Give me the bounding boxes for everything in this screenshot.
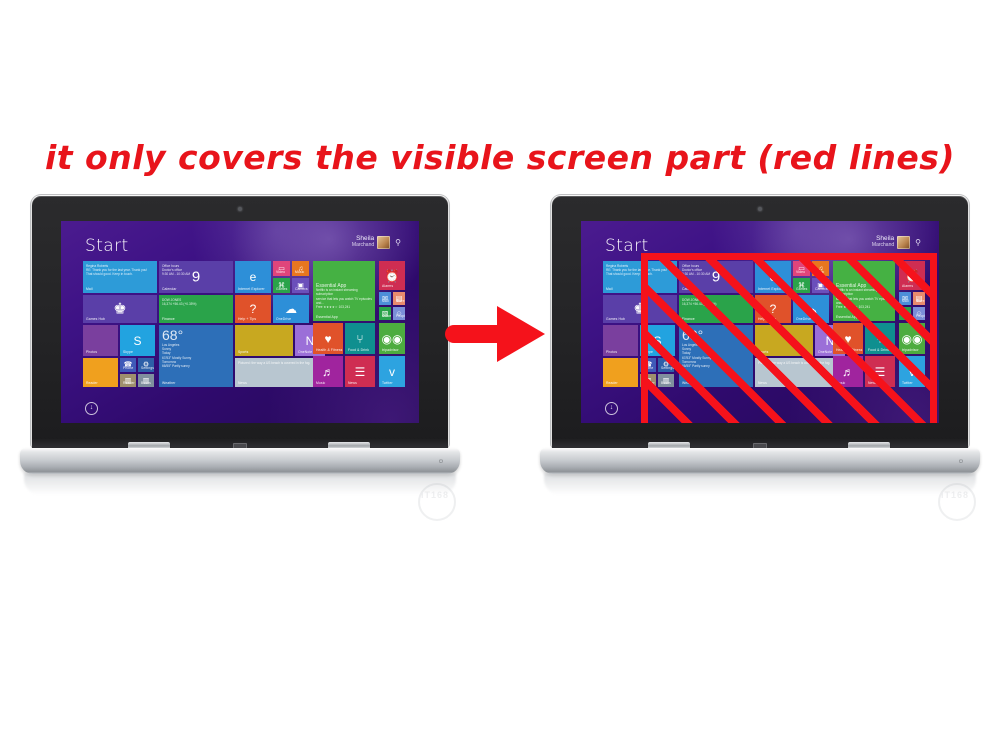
trophy-tile-label: Games Hub <box>86 317 105 321</box>
onedrive-tile-glyph-icon: ☁ <box>285 303 297 315</box>
internet-explorer-tile[interactable]: eInternet Explorer <box>235 261 271 293</box>
laptop-screen: Start Sheila Marchand ⚲ Regina RobertsRE… <box>61 221 419 423</box>
weather-tile-line-0: 68° <box>162 328 230 343</box>
orange-tile-label: Reader <box>606 381 618 385</box>
twitter-tile-glyph-icon: ᴠ <box>389 366 395 378</box>
health-fitness-tile-label: Health & Fitness <box>316 348 342 352</box>
help-tips-tile-label: Help + Tips <box>238 317 256 321</box>
tripadvisor-tile-label: tripadvisor <box>382 348 399 352</box>
laptop-lid: Start Sheila Marchand ⚲ Regina RobertsRE… <box>552 196 968 448</box>
news-red-tile-glyph-icon: ☰ <box>355 366 366 378</box>
phone-small-tile[interactable]: ☎Phone <box>120 358 136 372</box>
office-small-tile-label: Office <box>382 314 391 318</box>
food-drink-tile-glyph-icon: ⑂ <box>356 333 363 345</box>
user-account[interactable]: Sheila Marchand ⚲ <box>872 235 921 249</box>
settings-small-tile-label: Settings <box>141 366 154 370</box>
settings-small-tile[interactable]: ⚙Settings <box>138 358 154 372</box>
all-apps-down-arrow-icon[interactable]: ↓ <box>85 402 98 415</box>
trophy-tile-glyph-icon: ♚ <box>113 302 126 317</box>
watermark-text: IT168 <box>910 481 1000 502</box>
laptop-screen: Start Sheila Marchand ⚲ Regina RobertsRE… <box>581 221 939 423</box>
contacts-small-tile-label: People <box>396 314 405 318</box>
user-last-name: Marchand <box>872 242 894 249</box>
finance-tile-label: Finance <box>162 317 175 321</box>
music-purple-tile[interactable]: ♬Music <box>313 356 343 387</box>
music-purple-tile-glyph-icon: ♬ <box>322 366 334 378</box>
user-first-name: Sheila <box>872 235 894 242</box>
laptop-after: Start Sheila Marchand ⚲ Regina RobertsRE… <box>540 196 980 526</box>
help-tips-tile-glyph-icon: ? <box>250 303 257 315</box>
books-small-tile[interactable]: ▥Books <box>138 374 154 387</box>
photos-tile[interactable]: Photos <box>83 325 118 356</box>
user-first-name: Sheila <box>352 235 374 242</box>
food-drink-tile-label: Food & Drink <box>348 348 369 352</box>
laptop-base: ⏻ <box>20 448 460 474</box>
trophy-tile[interactable]: ♚Games Hub <box>83 295 157 323</box>
store-small-tile[interactable]: ▤Store <box>393 292 405 305</box>
help-tips-tile[interactable]: ?Help + Tips <box>235 295 271 323</box>
mail-small-tile-label: Mail <box>382 299 389 303</box>
onedrive-tile-label: OneDrive <box>276 317 291 321</box>
camera-tile-label: Camera <box>295 287 308 291</box>
photos-tile-label: Photos <box>606 350 617 354</box>
user-last-name: Marchand <box>352 242 374 249</box>
watermark: IT168 <box>390 481 480 523</box>
laptop-before: Start Sheila Marchand ⚲ Regina RobertsRE… <box>20 196 460 526</box>
search-icon[interactable]: ⚲ <box>915 238 921 247</box>
calendar-tile[interactable]: 9Office hoursDoctor's office9:30 AM - 10… <box>159 261 233 293</box>
photos-tile-label: Photos <box>86 350 97 354</box>
video-tile-label: Video <box>276 270 285 274</box>
skype-tile-label: Skype <box>123 350 133 354</box>
orange-tile-label: Reader <box>86 381 98 385</box>
right-arrow-icon <box>445 306 550 362</box>
avatar[interactable] <box>377 236 390 249</box>
mail-tile[interactable]: Regina RobertsRE: Thank you for the last… <box>83 261 157 293</box>
webcam-icon <box>758 207 762 211</box>
essential-app-tile-label: Essential App <box>316 315 338 319</box>
watermark-text: IT168 <box>390 481 480 502</box>
news-photo-tile[interactable]: Pictured: the way a US beach is covered … <box>235 358 325 387</box>
camera-tile[interactable]: ▣Camera <box>292 278 309 293</box>
calendar-tile-line-2: 9:30 AM - 10:30 AM <box>162 272 230 276</box>
weather-tile-line-6: 66/55° Partly sunny <box>162 364 230 368</box>
twitter-tile[interactable]: ᴠTwitter <box>379 356 405 387</box>
news-red-tile[interactable]: ☰News <box>345 356 375 387</box>
essential-app-tile-line-3: Free ★★★★☆ 103,241 <box>316 305 372 309</box>
power-button-icon[interactable]: ⏻ <box>959 459 964 465</box>
video-tile[interactable]: ▭Video <box>273 261 290 276</box>
weather-tile[interactable]: 68°Los AngelesSunnyToday67/53° Mostly Su… <box>159 325 233 387</box>
page-canvas: it only covers the visible screen part (… <box>0 0 1000 750</box>
sports-tile-label: Sports <box>238 350 248 354</box>
user-name: Sheila Marchand <box>872 235 894 249</box>
store-small-tile-label: Store <box>396 299 405 303</box>
laptop-base: ⏻ <box>540 448 980 474</box>
laptop-lid: Start Sheila Marchand ⚲ Regina RobertsRE… <box>32 196 448 448</box>
orange-tile[interactable]: Reader <box>83 358 118 387</box>
music-purple-tile-label: Music <box>316 381 325 385</box>
alarms-tile[interactable]: ⏰Alarms <box>379 261 405 290</box>
calendar-tile-label: Calendar <box>162 287 177 291</box>
red-hatch-overlay <box>641 253 937 423</box>
webcam-icon <box>238 207 242 211</box>
reader-small-tile[interactable]: ▥Reader <box>120 374 136 387</box>
contacts-small-tile[interactable]: ☺People <box>393 307 405 320</box>
games-tile[interactable]: ⌘Games <box>273 278 290 293</box>
phone-small-tile-label: Phone <box>123 366 133 370</box>
trophy-tile-label: Games Hub <box>606 317 625 321</box>
food-drink-tile[interactable]: ⑂Food & Drink <box>345 323 375 354</box>
news-photo-tile-text: Pictured: the way a US beach is covered … <box>238 361 322 365</box>
tile-grid: Regina RobertsRE: Thank you for the last… <box>83 261 405 401</box>
user-account[interactable]: Sheila Marchand ⚲ <box>352 235 401 249</box>
avatar[interactable] <box>897 236 910 249</box>
music-tile[interactable]: ♫Music <box>292 261 309 276</box>
mail-tile-line-2: That should good. Keep in touch. <box>86 272 154 276</box>
photos-tile[interactable]: Photos <box>603 325 638 356</box>
finance-tile-text: DOW JONES16,374 +56.43 (+0.35%) <box>162 298 230 306</box>
finance-tile-line-1: 16,374 +56.43 (+0.35%) <box>162 302 230 306</box>
weather-tile-text: 68°Los AngelesSunnyToday67/53° Mostly Su… <box>162 328 230 368</box>
mail-tile-text: Regina RobertsRE: Thank you for the last… <box>86 264 154 277</box>
music-tile-label: Music <box>295 270 304 274</box>
calendar-tile-text: Office hoursDoctor's office9:30 AM - 10:… <box>162 264 230 277</box>
essential-app-tile-line-2: service that lets you watch TV episodes … <box>316 297 372 305</box>
search-icon[interactable]: ⚲ <box>395 238 401 247</box>
page-title: it only covers the visible screen part (… <box>0 138 1000 177</box>
tripadvisor-tile-glyph-icon: ◉◉ <box>382 333 403 345</box>
news-red-tile-label: News <box>348 381 357 385</box>
reader-small-tile-label: Reader <box>123 381 135 385</box>
weather-tile-label: Weather <box>162 381 175 385</box>
news-photo-tile-label: News <box>238 381 247 385</box>
start-label: Start <box>85 236 129 256</box>
internet-explorer-tile-glyph-icon: e <box>250 271 257 283</box>
alarms-tile-label: Alarms <box>382 284 393 288</box>
internet-explorer-tile-label: Internet Explorer <box>238 287 265 291</box>
books-small-tile-label: Books <box>141 381 151 385</box>
orange-tile[interactable]: Reader <box>603 358 638 387</box>
twitter-tile-label: Twitter <box>382 381 393 385</box>
essential-app-tile-line-1: Netflix is an instant streaming subscrip… <box>316 288 372 296</box>
office-small-tile[interactable]: ▧Office <box>379 307 391 320</box>
games-tile-label: Games <box>276 287 287 291</box>
watermark: IT168 <box>910 481 1000 523</box>
mail-small-tile[interactable]: ✉Mail <box>379 292 391 305</box>
arrow-head <box>497 306 545 362</box>
health-fitness-tile[interactable]: ♥Health & Fitness <box>313 323 343 354</box>
mail-tile-label: Mail <box>606 287 613 291</box>
sports-tile[interactable]: Sports <box>235 325 293 356</box>
finance-tile[interactable]: DOW JONES16,374 +56.43 (+0.35%)Finance <box>159 295 233 323</box>
tripadvisor-tile[interactable]: ◉◉tripadvisor <box>379 323 405 354</box>
news-photo-tile-line-0: Pictured: the way a US beach is covered … <box>238 361 322 365</box>
health-fitness-tile-glyph-icon: ♥ <box>324 333 331 345</box>
user-name: Sheila Marchand <box>352 235 374 249</box>
essential-app-tile[interactable]: Essential AppNetflix is an instant strea… <box>313 261 375 321</box>
essential-app-tile-text: Essential AppNetflix is an instant strea… <box>316 264 372 309</box>
all-apps-down-arrow-icon[interactable]: ↓ <box>605 402 618 415</box>
power-button-icon[interactable]: ⏻ <box>439 459 444 465</box>
skype-tile[interactable]: SSkype <box>120 325 155 356</box>
onedrive-tile[interactable]: ☁OneDrive <box>273 295 309 323</box>
skype-tile-glyph-icon: S <box>133 335 141 347</box>
alarms-tile-glyph-icon: ⏰ <box>385 270 400 282</box>
mail-tile-label: Mail <box>86 287 93 291</box>
